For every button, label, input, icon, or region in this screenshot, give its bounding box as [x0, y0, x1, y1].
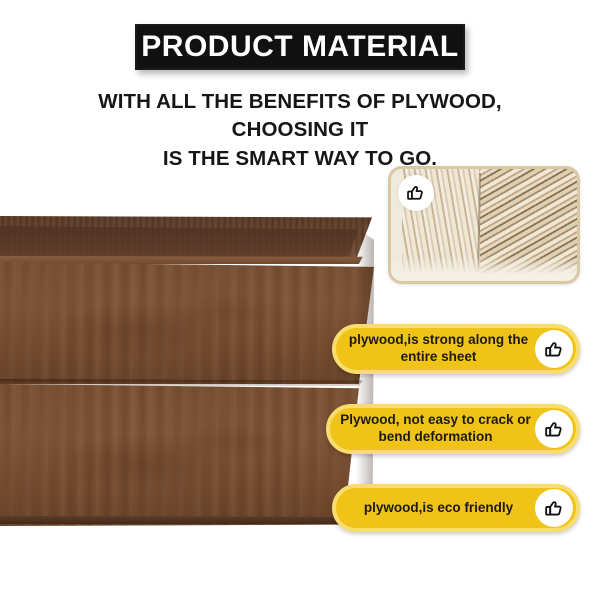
- wood-grain-texture: [0, 384, 374, 526]
- thumbs-up-icon: [535, 489, 573, 527]
- title-banner: PRODUCT MATERIAL: [135, 24, 465, 70]
- feature-badge-label: plywood,is strong along the entire sheet: [336, 332, 535, 366]
- thumbs-up-icon: [535, 330, 573, 368]
- thumbs-up-icon: [535, 410, 573, 448]
- plywood-closeup-inset: [388, 166, 580, 284]
- cabinet-drawer-front-upper: [0, 262, 374, 384]
- thumbs-up-icon: [398, 175, 434, 211]
- cabinet-drawer-front-lower: [0, 384, 374, 526]
- page-title: PRODUCT MATERIAL: [141, 32, 458, 62]
- feature-badge-label: plywood,is eco friendly: [336, 500, 535, 517]
- cabinet-inner-panel: [0, 226, 358, 260]
- feature-badge-label: Plywood, not easy to crack or bend defor…: [330, 412, 535, 446]
- feature-badge-strength[interactable]: plywood,is strong along the entire sheet: [332, 324, 580, 374]
- product-photo-cabinet: [0, 216, 374, 526]
- cabinet-bottom-edge: [0, 516, 374, 524]
- wood-grain-texture: [0, 262, 374, 384]
- cabinet-body: [0, 216, 374, 526]
- cabinet-top-rim: [0, 216, 374, 262]
- feature-badge-eco[interactable]: plywood,is eco friendly: [332, 484, 580, 532]
- plywood-photo-fade: [391, 256, 577, 281]
- subtitle-line-1: WITH ALL THE BENEFITS OF PLYWOOD, CHOOSI…: [45, 88, 555, 145]
- subtitle-block: WITH ALL THE BENEFITS OF PLYWOOD, CHOOSI…: [45, 88, 555, 173]
- product-material-infographic: PRODUCT MATERIAL WITH ALL THE BENEFITS O…: [0, 0, 600, 600]
- feature-badge-durability[interactable]: Plywood, not easy to crack or bend defor…: [326, 404, 580, 454]
